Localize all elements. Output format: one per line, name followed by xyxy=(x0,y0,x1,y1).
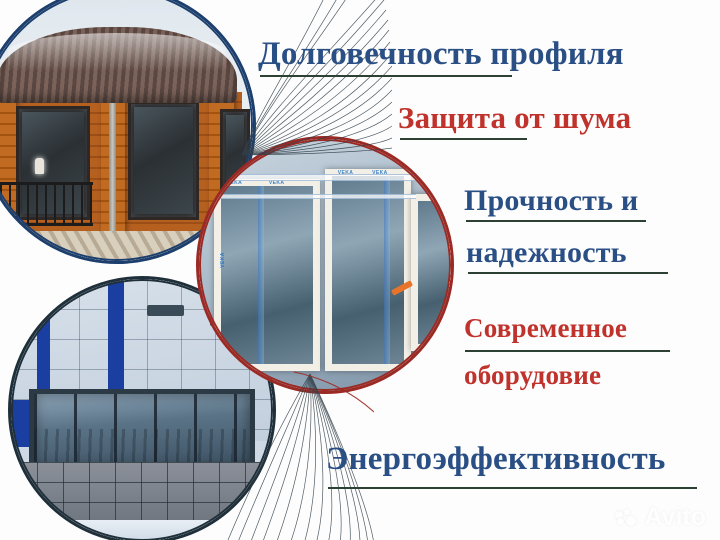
slogan-underline xyxy=(260,75,512,77)
slogan-underline xyxy=(465,350,670,352)
roof-highlight xyxy=(8,33,226,71)
avito-watermark: Avito xyxy=(615,505,706,530)
balcony-railing xyxy=(0,182,92,226)
window-glass xyxy=(221,186,313,364)
slogan-underline xyxy=(468,272,668,274)
branding-tape xyxy=(209,174,416,181)
protective-film xyxy=(258,186,264,364)
photo-veka-windows: VEKA VEKA VEKA VEKA VEKA xyxy=(196,136,454,394)
window-glass xyxy=(418,201,449,343)
window-pack: VEKA VEKA xyxy=(325,169,411,371)
slogan-noise-protection: Защита от шума xyxy=(398,100,631,136)
branding-tape xyxy=(209,194,416,199)
downpipe xyxy=(109,87,116,250)
stone-plinth xyxy=(11,462,273,525)
blue-accent-strip xyxy=(108,279,124,389)
slogan-energy-efficiency: Энергоэффективность xyxy=(326,441,666,478)
slogan-underline xyxy=(328,487,697,489)
avito-dots-logo-icon xyxy=(615,509,639,526)
slogan-durability: Долговечность профиля xyxy=(258,36,624,73)
window-pane xyxy=(128,101,199,221)
poster-canvas: VEKA VEKA VEKA VEKA VEKA xyxy=(0,0,720,540)
slogan-equipment-line1: Современное xyxy=(464,313,627,344)
snow-ground xyxy=(11,520,273,540)
slogan-strength-line2: надежность xyxy=(466,236,627,270)
protective-film xyxy=(384,176,390,364)
vent-grille xyxy=(147,305,184,315)
window-pack: VEKA VEKA VEKA xyxy=(214,179,320,371)
window-glass xyxy=(332,176,404,364)
slogan-equipment-line2: оборудовие xyxy=(464,360,601,391)
slogan-underline xyxy=(400,138,527,140)
slogan-strength-line1: Прочность и xyxy=(464,184,638,218)
veka-logo-mark: VEKA xyxy=(220,253,226,269)
window-pack xyxy=(411,194,454,350)
wall-lamp xyxy=(35,158,44,174)
slogan-underline xyxy=(466,220,646,222)
glazed-storefront xyxy=(29,389,254,473)
avito-watermark-text: Avito xyxy=(644,505,706,530)
corner-post xyxy=(0,92,16,250)
